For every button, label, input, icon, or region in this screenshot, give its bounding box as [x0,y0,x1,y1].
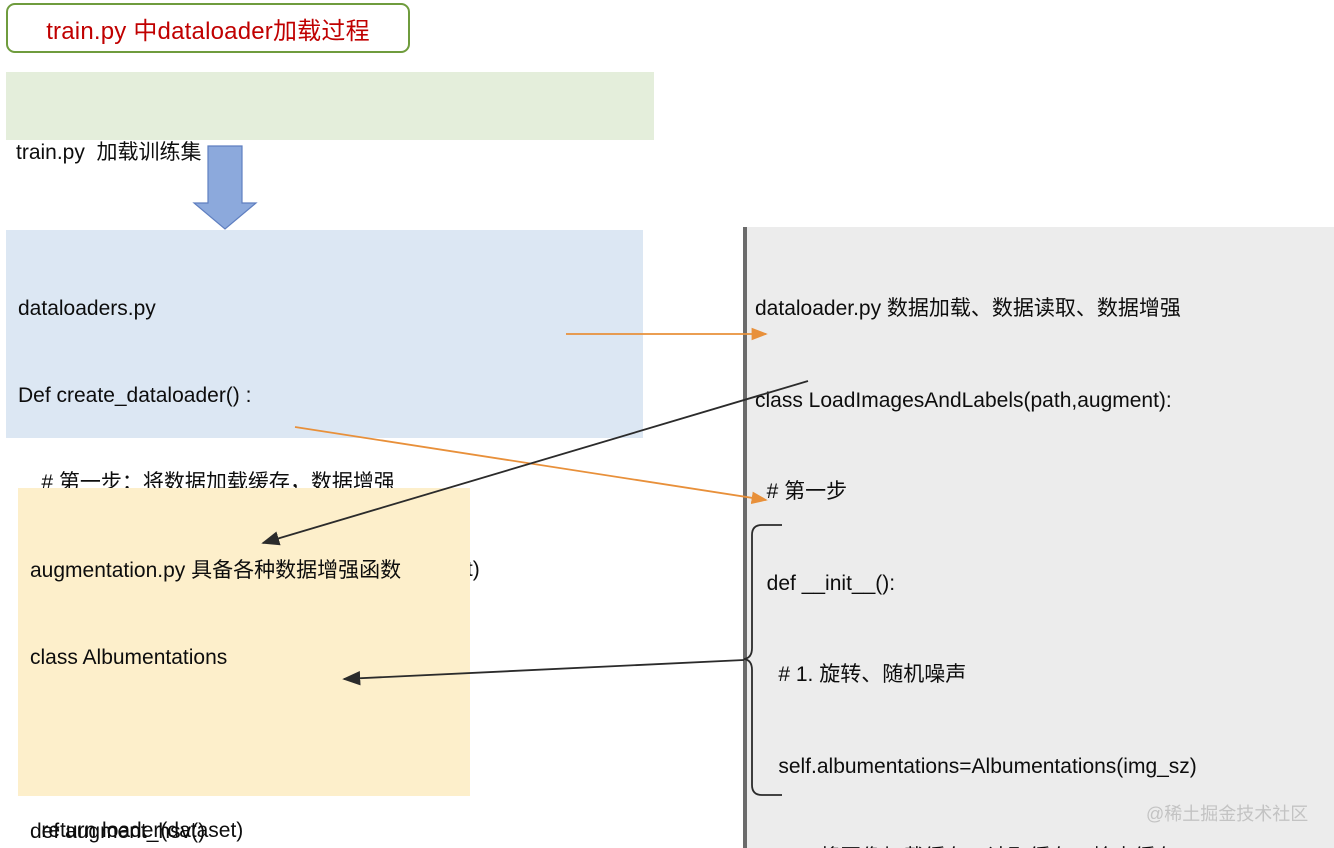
page-title: train.py 中dataloader加载过程 [46,11,370,46]
gray-line-0: dataloader.py 数据加载、数据读取、数据增强 [755,294,1334,325]
gray-line-2: # 第一步 [755,477,1334,508]
gray-line-5: self.albumentations=Albumentations(img_s… [755,752,1334,783]
yellow-line-3: def augment_hsv() [30,817,470,846]
watermark: @稀土掘金技术社区 [1146,800,1308,826]
gray-line-1: class LoadImagesAndLabels(path,augment): [755,386,1334,417]
yellow-spacer-1 [30,730,470,759]
yellow-line-1: class Albumentations [30,643,470,672]
gray-line-3: def __init__(): [755,569,1334,600]
blue-line-0: dataloaders.py [18,294,643,323]
blue-block-dataloaders-py: dataloaders.py Def create_dataloader() :… [6,230,643,438]
gray-line-4: # 1. 旋转、随机噪声 [755,660,1334,691]
diagram-canvas: train.py 中dataloader加载过程 train.py 加载训练集 … [0,0,1334,848]
green-line-0: train.py 加载训练集 [16,138,654,167]
yellow-line-0: augmentation.py 具备各种数据增强函数 [30,556,470,585]
gray-panel-dataloader-py: dataloader.py 数据加载、数据读取、数据增强 class LoadI… [743,227,1334,848]
green-block-train-py: train.py 加载训练集 Train_loader, dataset=cre… [6,72,654,140]
yellow-block-augmentation-py: augmentation.py 具备各种数据增强函数 class Albumen… [18,488,470,796]
blue-line-1: Def create_dataloader() : [18,381,643,410]
gray-line-6: # 2. 将图像加载缓存、读取缓存、检查缓存 [755,843,1334,848]
diagram-title-box: train.py 中dataloader加载过程 [6,3,410,53]
